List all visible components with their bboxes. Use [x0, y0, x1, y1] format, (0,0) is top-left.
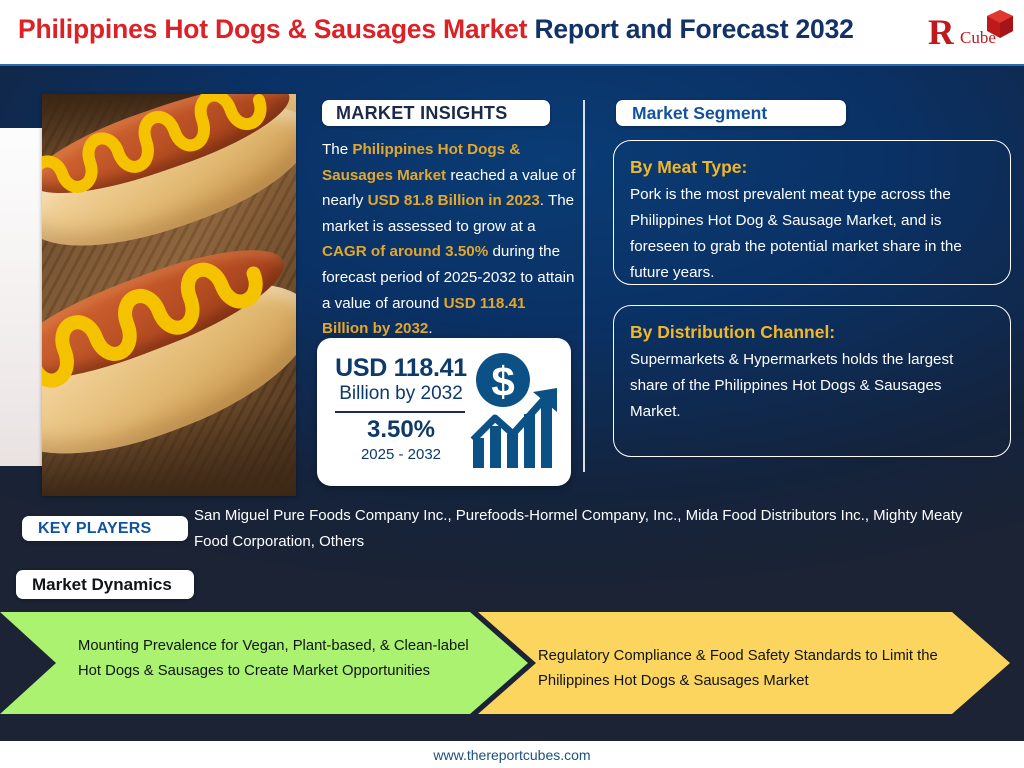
market-insights-label-text: MARKET INSIGHTS — [336, 103, 508, 124]
insights-plain: The — [322, 141, 352, 158]
stat-divider — [335, 411, 465, 413]
insights-highlight: USD 81.8 Billion in 2023 — [368, 192, 540, 209]
footer-url[interactable]: www.thereportcubes.com — [433, 747, 590, 763]
red-cube-icon — [986, 10, 1014, 40]
banner-yellow-text: Regulatory Compliance & Food Safety Stan… — [538, 644, 958, 694]
market-segment-label: Market Segment — [616, 100, 846, 126]
market-segment-label-text: Market Segment — [632, 103, 767, 124]
insights-plain: . — [428, 320, 432, 337]
hero-photo-hotdogs — [42, 94, 296, 496]
segment-title: By Meat Type: — [630, 155, 994, 180]
svg-text:$: $ — [491, 358, 514, 405]
banner-green-text: Mounting Prevalence for Vegan, Plant-bas… — [78, 634, 470, 684]
market-dynamics-banners: Mounting Prevalence for Vegan, Plant-bas… — [0, 608, 1024, 718]
footer-bar: www.thereportcubes.com — [0, 741, 1024, 768]
stat-value: USD 118.41 — [333, 354, 469, 382]
page-title-navy: Report and Forecast 2032 — [534, 14, 853, 44]
market-insights-text: The Philippines Hot Dogs & Sausages Mark… — [322, 137, 576, 342]
stat-period: 2025 - 2032 — [333, 445, 469, 464]
insights-highlight: CAGR of around 3.50% — [322, 243, 488, 260]
column-divider — [583, 100, 585, 472]
header-bar: Philippines Hot Dogs & Sausages Market R… — [0, 0, 1024, 66]
market-dynamics-label: Market Dynamics — [16, 570, 194, 599]
logo-r-mark: Я — [928, 14, 954, 50]
page-title-red: Philippines Hot Dogs & Sausages Market — [18, 14, 527, 44]
key-players-text: San Miguel Pure Foods Company Inc., Pure… — [194, 503, 984, 555]
segment-body: Supermarkets & Hypermarkets holds the la… — [630, 347, 994, 425]
key-players-label: KEY PLAYERS — [22, 516, 188, 541]
stat-card-values: USD 118.41 Billion by 2032 3.50% 2025 - … — [333, 354, 469, 464]
stat-cagr: 3.50% — [333, 415, 469, 445]
dollar-coin-icon: $ — [476, 353, 530, 407]
stat-value-sub: Billion by 2032 — [333, 382, 469, 406]
segment-body: Pork is the most prevalent meat type acr… — [630, 182, 994, 286]
segment-box-meat-type: By Meat Type: Pork is the most prevalent… — [613, 140, 1011, 285]
key-players-label-text: KEY PLAYERS — [38, 520, 151, 538]
segment-title: By Distribution Channel: — [630, 320, 994, 345]
segment-box-distribution-channel: By Distribution Channel: Supermarkets & … — [613, 305, 1011, 457]
stat-card: USD 118.41 Billion by 2032 3.50% 2025 - … — [317, 338, 571, 486]
infographic-page: Philippines Hot Dogs & Sausages Market R… — [0, 0, 1024, 768]
brand-logo[interactable]: Я Cube — [924, 8, 1016, 58]
market-dynamics-label-text: Market Dynamics — [32, 575, 172, 595]
page-title: Philippines Hot Dogs & Sausages Market R… — [18, 14, 854, 45]
market-insights-label: MARKET INSIGHTS — [322, 100, 550, 126]
stat-card-icons: $ — [469, 352, 561, 472]
